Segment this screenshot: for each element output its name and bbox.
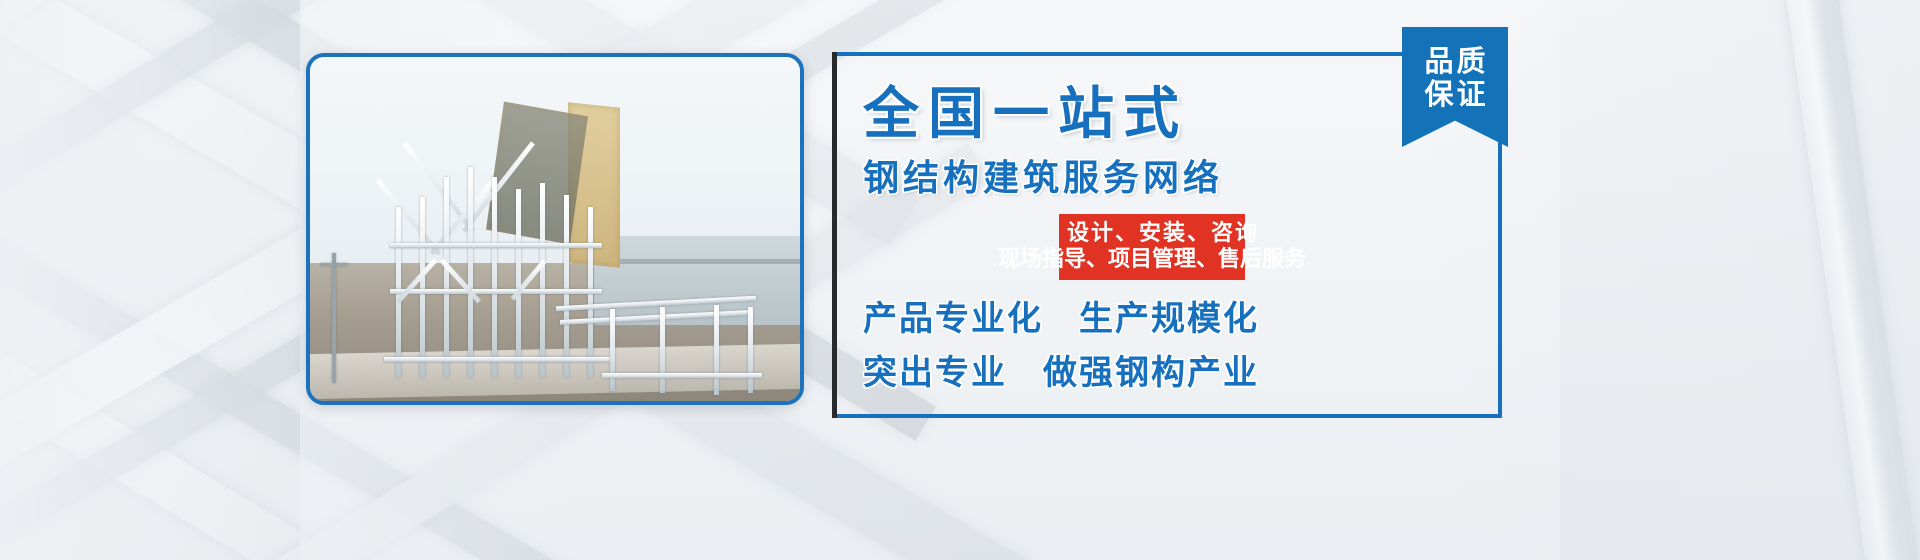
photo-mid-plate (390, 289, 602, 294)
badge-line-1: 品质 (1421, 47, 1488, 78)
construction-photo-card (306, 53, 804, 405)
photo-stud (444, 177, 449, 377)
tagline-1: 产品专业化 生产规模化 (863, 302, 1498, 336)
headline-secondary: 钢结构建筑服务网络 (863, 160, 1498, 196)
panel-content: 全国一站式 钢结构建筑服务网络 设计、安装、咨询 现场指导、项目管理、售后服务 … (837, 56, 1498, 414)
photo-porch-rail (602, 373, 762, 378)
photo-stud (420, 197, 425, 377)
photo-porch-post (610, 309, 615, 391)
panel-bottom-rail (837, 414, 1502, 418)
photo-stud (468, 167, 473, 377)
service-line-2: 现场指导、项目管理、售后服务 (966, 246, 1338, 272)
tagline-2: 突出专业 做强钢构产业 (863, 356, 1498, 390)
photo-porch-post (660, 307, 665, 393)
photo-roof-panel (486, 102, 588, 245)
photo-utility-pole (332, 253, 336, 383)
photo-porch-post (748, 307, 753, 393)
photo-bottom-plate (384, 357, 610, 362)
headline-panel: 品质 保证 全国一站式 钢结构建筑服务网络 设计、安装、咨询 现场指导、项目管理… (832, 52, 1502, 418)
photo-top-plate (390, 243, 602, 248)
construction-photo (310, 57, 800, 401)
photo-stud (516, 189, 521, 377)
photo-utility-crossarm (320, 263, 348, 266)
photo-porch-post (714, 305, 719, 395)
photo-stud (492, 177, 497, 377)
badge-line-2: 保证 (1421, 80, 1488, 111)
service-line-1: 设计、安装、咨询 (1067, 220, 1237, 246)
photo-stud (564, 195, 569, 377)
promo-banner: 品质 保证 全国一站式 钢结构建筑服务网络 设计、安装、咨询 现场指导、项目管理… (0, 0, 1920, 560)
photo-stud (540, 183, 545, 377)
service-highlight-block: 设计、安装、咨询 现场指导、项目管理、售后服务 (1059, 214, 1245, 280)
